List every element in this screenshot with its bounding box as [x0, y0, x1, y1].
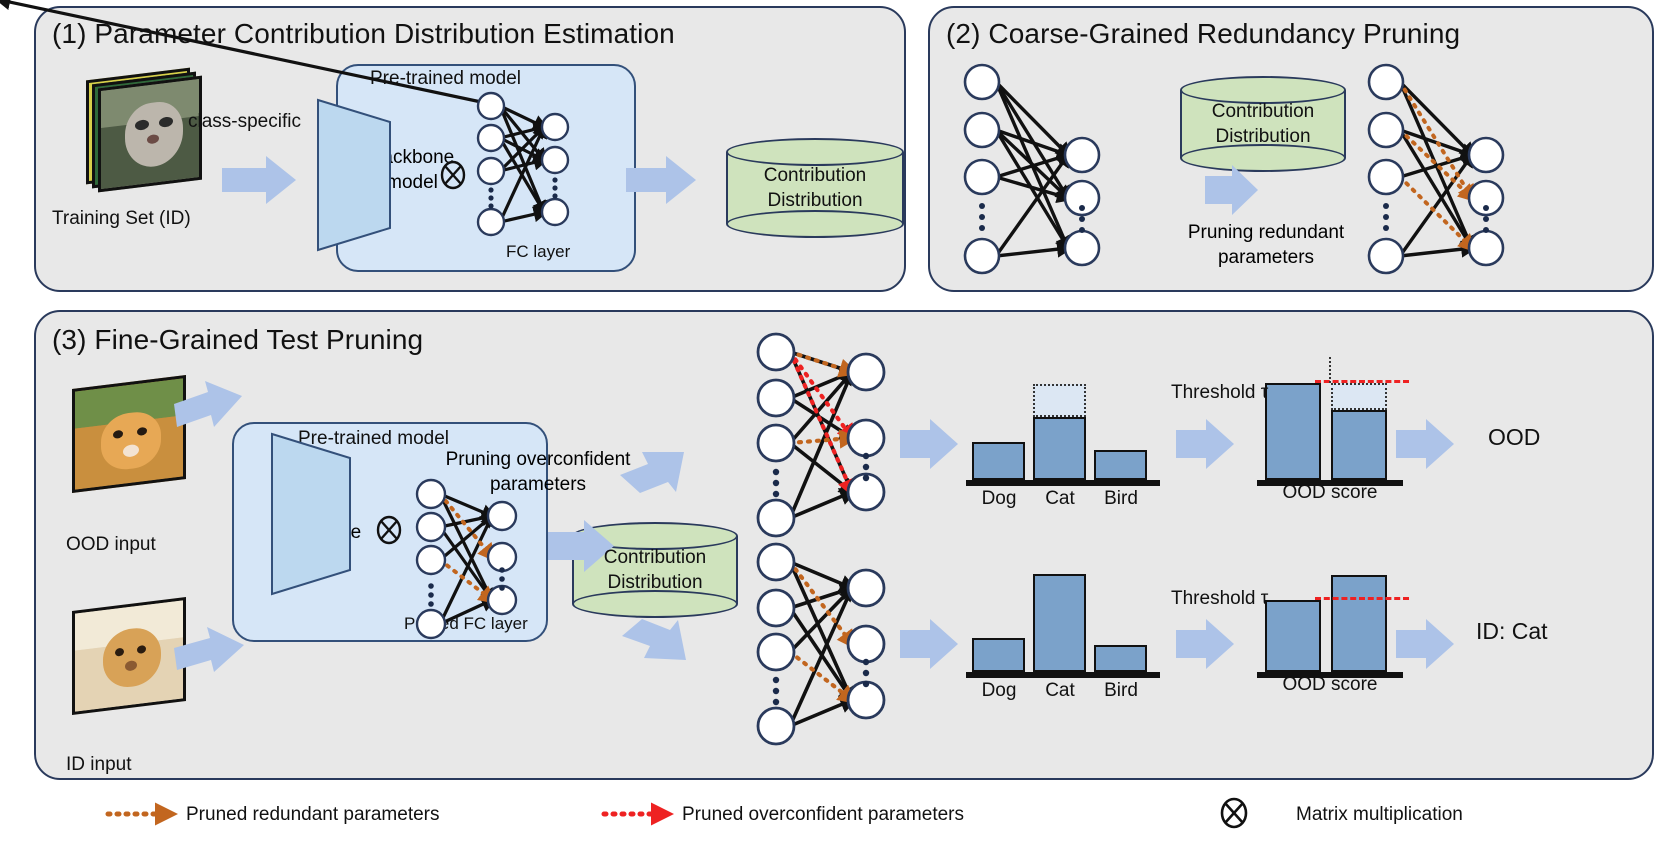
- chart-logits-id-tick-cat: Cat: [1027, 680, 1093, 702]
- legend-item-2-label: Matrix multiplication: [1296, 804, 1463, 826]
- panel3-id-input-caption: ID input: [66, 754, 131, 776]
- panel1-backbone-line2: model: [386, 172, 438, 193]
- panel3-backbone-line2: model: [293, 547, 345, 568]
- chart-logits-ood-axis: [966, 480, 1160, 486]
- chart-logits-ood-tick-cat: Cat: [1027, 488, 1093, 510]
- chart-logits-id-tick-bird: Bird: [1088, 680, 1154, 702]
- panel2-db-line2: Distribution: [1215, 126, 1310, 147]
- chart-logits-ood-bar-bird: [1094, 450, 1147, 480]
- panel3-result-id: ID: Cat: [1476, 618, 1548, 645]
- panel1-model-title: Pre-trained model: [370, 68, 521, 90]
- panel1-backbone-line1: Backbone: [370, 147, 455, 168]
- panel1-fc-caption: FC layer: [506, 242, 570, 262]
- panel1-title: (1) Parameter Contribution Distribution …: [52, 18, 675, 50]
- figure-root: (1) Parameter Contribution Distribution …: [0, 0, 1662, 849]
- chart-score-id-threshold-line: [1315, 597, 1409, 600]
- chart-logits-ood-tick-bird: Bird: [1088, 488, 1154, 510]
- chart-logits-id-tick-dog: Dog: [966, 680, 1032, 702]
- chart-logits-id-bar-cat: [1033, 574, 1086, 672]
- panel3-title: (3) Fine-Grained Test Pruning: [52, 324, 423, 356]
- chart-logits-ood-bar-dog: [972, 442, 1025, 480]
- panel1-db-line1: Contribution: [764, 165, 866, 186]
- legend-item-1-label: Pruned overconfident parameters: [682, 804, 964, 826]
- chart-score-ood-threshold-tick: [1329, 357, 1331, 383]
- panel2-action-line1: Pruning redundant: [1188, 222, 1344, 243]
- panel3-backbone-label: Backbone model: [254, 520, 384, 570]
- chart-logits-ood: Dog Cat Bird: [966, 370, 1166, 480]
- legend-bar: Pruned redundant parameters Pruned overc…: [34, 786, 1654, 844]
- panel3-ood-input-caption: OOD input: [66, 534, 156, 556]
- chart-score-ood-xlabel: OOD score: [1245, 482, 1415, 504]
- panel3-db-line1: Contribution: [604, 547, 706, 568]
- chart-score-id: Threshold τ OOD score: [1251, 552, 1431, 672]
- panel3-result-ood: OOD: [1488, 424, 1540, 451]
- panel2-contribution-distribution-db: Contribution Distribution: [1180, 76, 1346, 172]
- id-input-thumbnail: [72, 604, 202, 724]
- legend-item-0-label: Pruned redundant parameters: [186, 804, 440, 826]
- panel3-action-line2: parameters: [490, 474, 586, 495]
- panel2-action-line2: parameters: [1218, 247, 1314, 268]
- panel3-db-line2: Distribution: [607, 572, 702, 593]
- chart-logits-id-axis: [966, 672, 1160, 678]
- chart-logits-ood-tick-dog: Dog: [966, 488, 1032, 510]
- panel2-db-line1: Contribution: [1212, 101, 1314, 122]
- ood-input-thumbnail: [72, 382, 202, 502]
- chart-score-ood-bar-before: [1265, 383, 1321, 480]
- panel-parameter-contribution-distribution-estimation: (1) Parameter Contribution Distribution …: [34, 6, 906, 292]
- panel1-backbone-label: Backbone model: [352, 145, 472, 195]
- panel-fine-grained-test-pruning: (3) Fine-Grained Test Pruning OOD input: [34, 310, 1654, 780]
- chart-logits-ood-bar-cat: [1033, 417, 1086, 480]
- chart-score-id-threshold-label: Threshold τ: [1171, 588, 1268, 610]
- panel1-contribution-distribution-db: Contribution Distribution: [726, 138, 904, 238]
- chart-logits-id: Dog Cat Bird: [966, 562, 1166, 672]
- chart-logits-id-bar-dog: [972, 638, 1025, 672]
- panel3-contribution-distribution-db: Contribution Distribution: [572, 522, 738, 618]
- panel2-title: (2) Coarse-Grained Redundancy Pruning: [946, 18, 1460, 50]
- panel-coarse-grained-redundancy-pruning: (2) Coarse-Grained Redundancy Pruning Co…: [928, 6, 1654, 292]
- chart-score-id-bar-after: [1331, 575, 1387, 672]
- chart-score-ood-ghost: [1331, 383, 1387, 410]
- chart-score-ood-threshold-label: Threshold τ: [1171, 382, 1268, 404]
- panel1-edge-label: class-specific: [188, 111, 301, 133]
- chart-score-ood: Threshold τ OOD score: [1251, 360, 1431, 480]
- panel3-action-label: Pruning overconfident parameters: [408, 447, 668, 497]
- panel3-action-line1: Pruning overconfident: [446, 449, 631, 470]
- chart-score-id-bar-before: [1265, 600, 1321, 672]
- panel1-input-caption: Training Set (ID): [52, 208, 191, 230]
- chart-score-ood-bar-after: [1331, 410, 1387, 480]
- panel3-fc-caption: Pruned FC layer: [404, 614, 528, 634]
- panel2-action-label: Pruning redundant parameters: [1166, 220, 1366, 270]
- panel1-db-line2: Distribution: [767, 190, 862, 211]
- chart-logits-id-bar-bird: [1094, 645, 1147, 672]
- chart-score-id-xlabel: OOD score: [1245, 674, 1415, 696]
- panel3-backbone-line1: Backbone: [277, 522, 362, 543]
- training-set-thumbnail: [80, 68, 210, 198]
- chart-logits-ood-ghost-cat: [1033, 384, 1086, 417]
